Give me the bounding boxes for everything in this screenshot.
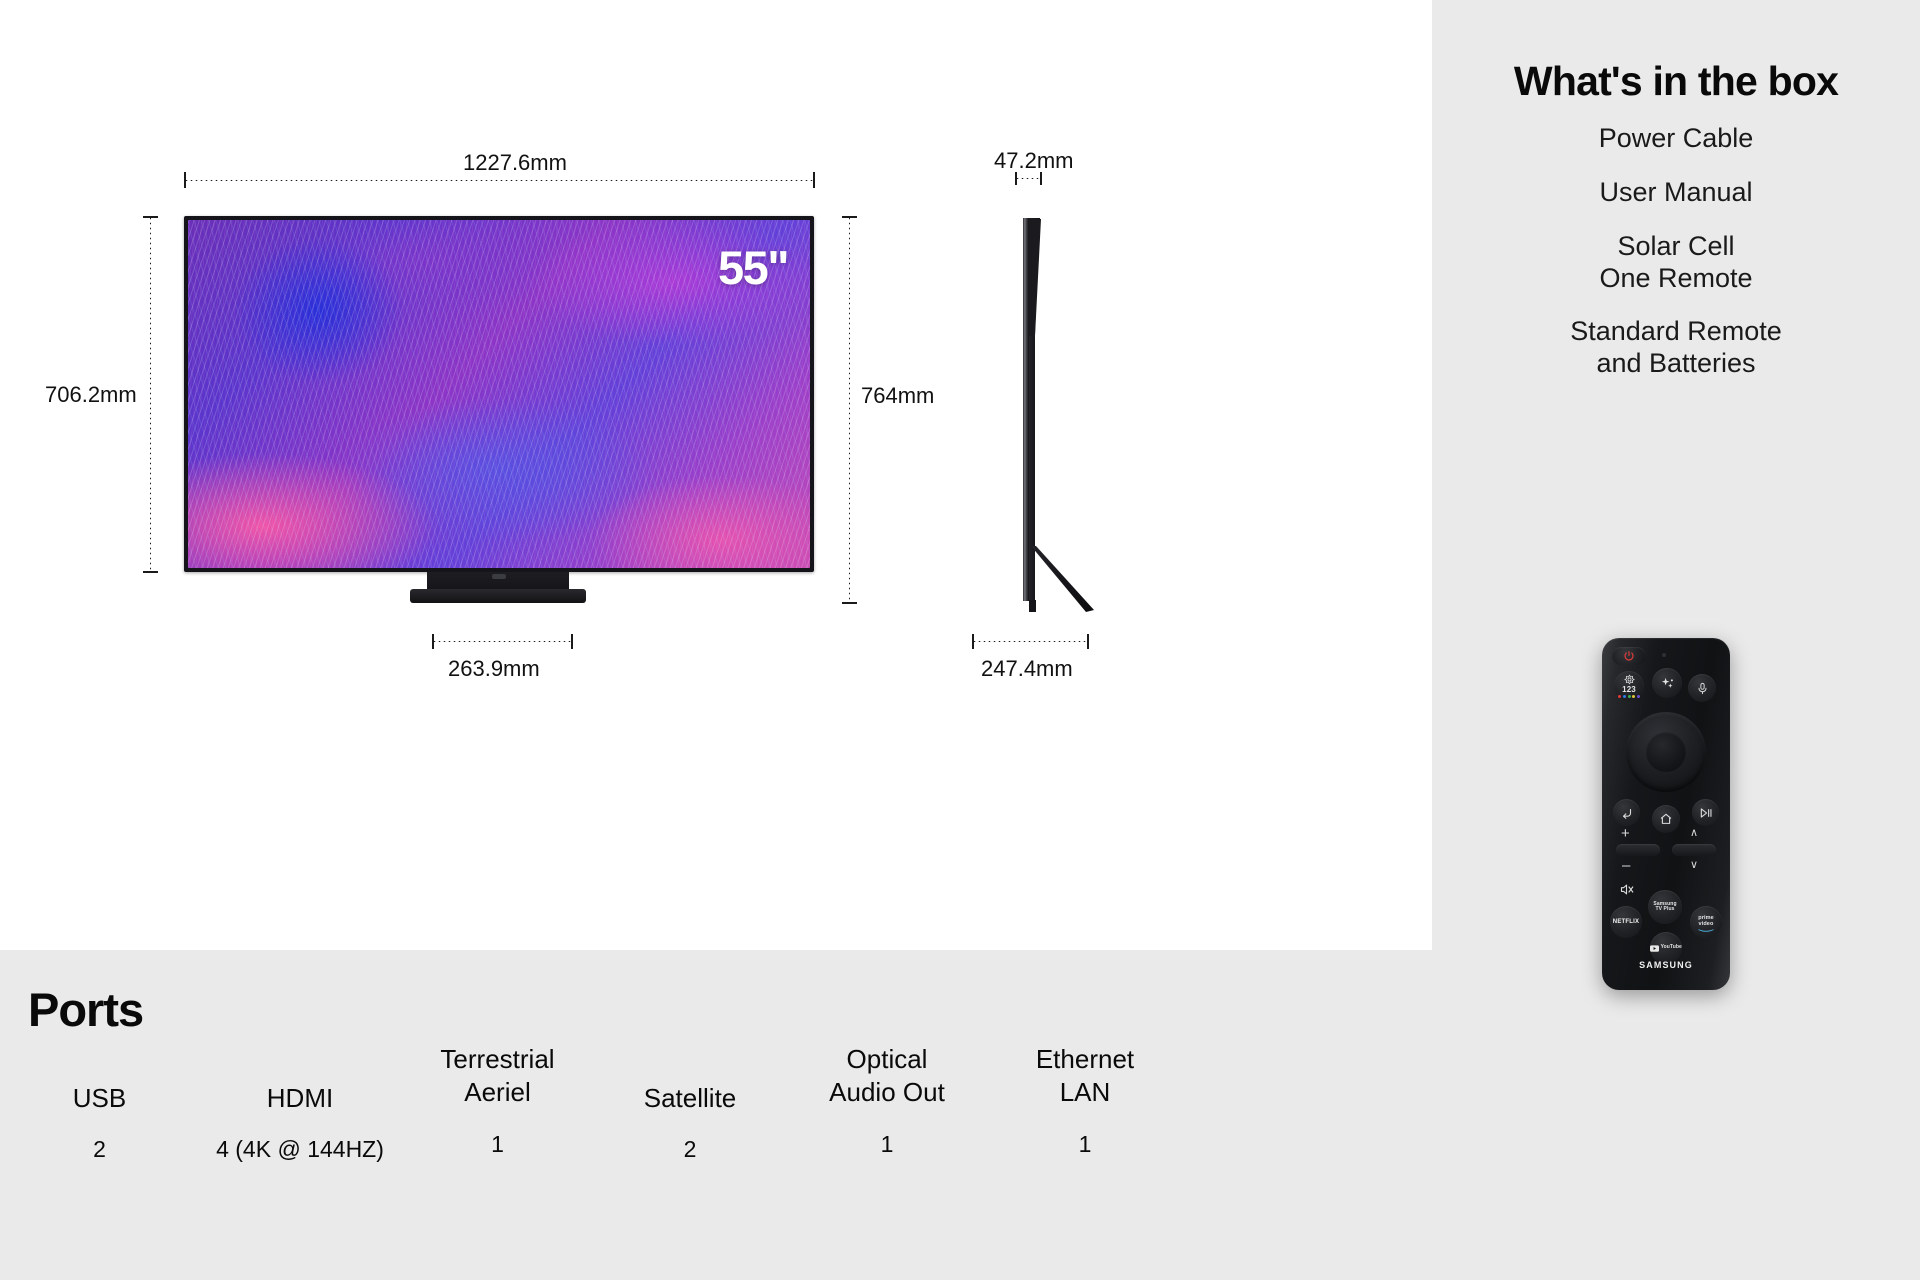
prime-video-label: prime video: [1698, 916, 1713, 928]
box-item: User Manual: [1432, 177, 1920, 209]
remote-ai-assistant-button[interactable]: [1652, 668, 1682, 698]
microphone-icon: [1696, 682, 1709, 695]
dim-stand-depth-label: 247.4mm: [981, 656, 1073, 682]
dim-total-height-cap-bottom: [842, 602, 857, 604]
home-icon: [1659, 812, 1673, 826]
dim-front-width-label: 1227.6mm: [463, 150, 567, 176]
tv-screen: 55": [188, 220, 810, 568]
remote-color-dots: [1618, 695, 1639, 698]
netflix-label: NETFLIX: [1613, 919, 1639, 925]
remote-channel-up-label[interactable]: ∧: [1690, 828, 1698, 839]
remote-mute-button[interactable]: [1613, 876, 1639, 902]
ports-title: Ports: [28, 982, 143, 1037]
back-arrow-icon: [1620, 806, 1634, 820]
port-value: 2: [22, 1136, 177, 1163]
dim-depth-line: [1015, 178, 1041, 179]
youtube-label: YouTube: [1661, 945, 1682, 950]
remote-channel-rocker[interactable]: [1672, 844, 1716, 856]
port-value: 1: [1006, 1131, 1164, 1158]
box-item: Standard Remote and Batteries: [1432, 316, 1920, 380]
port-column-terrestrial-aeriel: Terrestrial Aeriel 1: [420, 1043, 575, 1158]
port-value: 4 (4K @ 144HZ): [200, 1136, 400, 1163]
port-value: 1: [808, 1131, 966, 1158]
remote-netflix-button[interactable]: NETFLIX: [1610, 906, 1642, 938]
dim-total-height-cap-top: [842, 216, 857, 218]
port-value: 2: [610, 1136, 770, 1163]
remote-back-button[interactable]: [1613, 799, 1640, 826]
dim-panel-height-label: 706.2mm: [45, 382, 137, 408]
remote-123-label: 123: [1622, 686, 1636, 694]
dim-panel-height-cap-top: [143, 216, 158, 218]
remote-volume-up-label[interactable]: +: [1621, 826, 1630, 841]
tv-ir-sensor: [492, 574, 506, 579]
port-label: Ethernet LAN: [1006, 1043, 1164, 1110]
box-item: Solar Cell One Remote: [1432, 231, 1920, 295]
port-label: Terrestrial Aeriel: [420, 1043, 575, 1110]
tv-side-silhouette: [1010, 216, 1120, 616]
tv-bezel: 55": [184, 216, 814, 572]
dim-depth-cap-right: [1040, 172, 1042, 185]
dim-stand-width-cap-right: [571, 634, 573, 649]
remote-volume-rocker[interactable]: [1616, 844, 1660, 856]
tv-front-view: 55": [184, 216, 814, 572]
remote-power-button[interactable]: [1612, 647, 1646, 665]
dim-stand-width-line: [432, 641, 572, 642]
box-item: Power Cable: [1432, 123, 1920, 155]
port-column-usb: USB 2: [22, 1082, 177, 1163]
port-value: 1: [420, 1131, 575, 1158]
dim-panel-height-line: [150, 216, 151, 572]
port-column-optical-audio-out: Optical Audio Out 1: [808, 1043, 966, 1158]
whats-in-the-box-title: What's in the box: [1432, 58, 1920, 105]
screen-size-badge: 55": [718, 240, 788, 295]
dim-stand-depth-cap-right: [1087, 634, 1089, 649]
dim-front-width-line: [184, 180, 814, 181]
youtube-icon: [1650, 945, 1659, 952]
gear-icon: [1624, 674, 1635, 685]
samsung-remote-control: 123: [1602, 638, 1730, 990]
screen-texture-wisps: [188, 220, 810, 568]
port-label: HDMI: [200, 1082, 400, 1115]
play-pause-icon: [1699, 806, 1713, 820]
dim-total-height-line: [849, 216, 850, 603]
remote-channel-down-label[interactable]: ∨: [1690, 860, 1698, 871]
prime-smile-icon: [1698, 928, 1714, 933]
mute-icon: [1619, 882, 1634, 897]
ai-sparkle-icon: [1660, 676, 1675, 691]
remote-settings-123-button[interactable]: 123: [1614, 671, 1644, 701]
dim-stand-width-label: 263.9mm: [448, 656, 540, 682]
dim-panel-height-cap-bottom: [143, 571, 158, 573]
dim-depth-cap-left: [1015, 172, 1017, 185]
dim-depth-label: 47.2mm: [994, 148, 1073, 174]
tv-stand-base: [410, 589, 586, 603]
tv-side-view: [1010, 216, 1120, 616]
remote-microphone-button[interactable]: [1688, 674, 1716, 702]
dim-stand-depth-line: [972, 641, 1088, 642]
remote-volume-down-label[interactable]: –: [1622, 858, 1630, 873]
power-icon: [1623, 650, 1635, 662]
remote-ir-led: [1662, 653, 1666, 657]
remote-prime-video-button[interactable]: prime video: [1690, 906, 1722, 938]
remote-home-button[interactable]: [1652, 805, 1680, 833]
dim-total-height-label: 764mm: [861, 383, 934, 409]
port-label: USB: [22, 1082, 177, 1115]
remote-brand-logo: SAMSUNG: [1602, 960, 1730, 970]
dim-stand-depth-cap-left: [972, 634, 974, 649]
port-column-hdmi: HDMI 4 (4K @ 144HZ): [200, 1082, 400, 1163]
remote-ok-button[interactable]: [1646, 732, 1686, 772]
samsung-tv-plus-label: Samsung TV Plus: [1653, 902, 1676, 913]
port-label: Satellite: [610, 1082, 770, 1115]
dim-stand-width-cap-left: [432, 634, 434, 649]
dim-front-width-cap-left: [184, 172, 186, 188]
dim-front-width-cap-right: [813, 172, 815, 188]
port-label: Optical Audio Out: [808, 1043, 966, 1110]
port-column-ethernet-lan: Ethernet LAN 1: [1006, 1043, 1164, 1158]
port-column-satellite: Satellite 2: [610, 1082, 770, 1163]
remote-samsung-tv-plus-button[interactable]: Samsung TV Plus: [1648, 890, 1682, 924]
remote-play-pause-button[interactable]: [1692, 799, 1719, 826]
